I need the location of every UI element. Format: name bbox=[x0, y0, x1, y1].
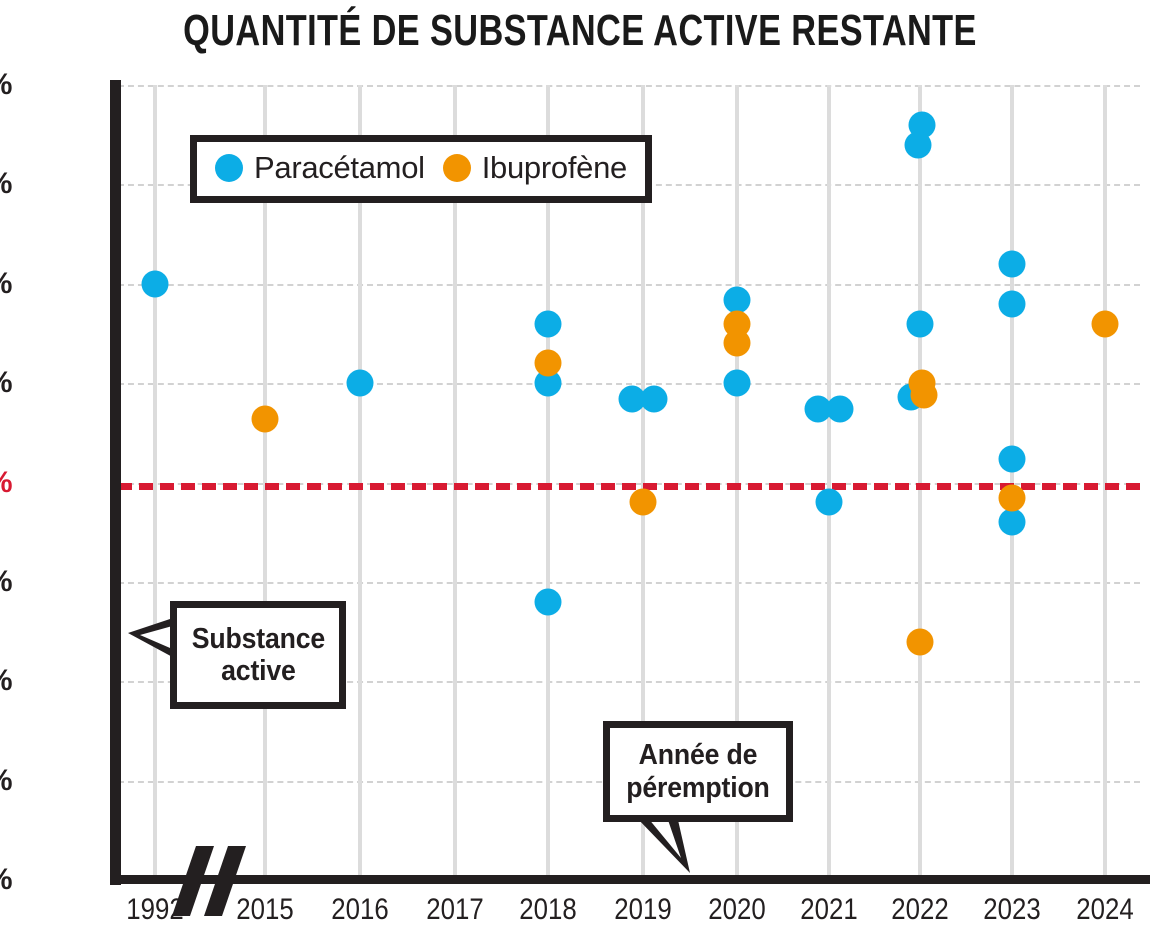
x-axis-tick-label: 2018 bbox=[519, 893, 576, 927]
y-axis-tick-label: 75 % bbox=[0, 764, 12, 798]
y-axis-tick-label: 80 % bbox=[0, 664, 12, 698]
x-axis-tick-label: 2015 bbox=[236, 893, 293, 927]
legend-swatch-blue-circle-icon bbox=[215, 154, 243, 182]
x-axis-tick-label: 2020 bbox=[708, 893, 765, 927]
y-axis-line bbox=[110, 80, 121, 885]
y-axis-tick-label: 70 % bbox=[0, 863, 12, 897]
callout-annee-peremption: Année de péremption bbox=[603, 721, 793, 822]
x-axis-tick-label: 2021 bbox=[800, 893, 857, 927]
y-axis-tick-label: 90 % bbox=[0, 466, 12, 500]
y-axis-tick-label: 100 % bbox=[0, 267, 12, 301]
legend-item-ibuprofene[interactable]: Ibuprofène bbox=[443, 150, 627, 186]
x-axis-tick-label: 2019 bbox=[614, 893, 671, 927]
x-axis-tick-label: 2016 bbox=[331, 893, 388, 927]
chart-container: QUANTITÉ DE SUBSTANCE ACTIVE RESTANTE 11… bbox=[0, 0, 1160, 941]
callout-substance-active-line2: active bbox=[191, 655, 324, 687]
legend-label-ibuprofene: Ibuprofène bbox=[482, 150, 627, 186]
legend-label-paracetamol: Paracétamol bbox=[254, 150, 425, 186]
x-axis-tick-label: 2023 bbox=[983, 893, 1040, 927]
x-axis-line bbox=[110, 875, 1150, 884]
y-axis-tick-label: 105 % bbox=[0, 167, 12, 201]
chart-legend: Paracétamol Ibuprofène bbox=[190, 135, 652, 203]
y-axis-tick-label: 85 % bbox=[0, 565, 12, 599]
y-axis-tick-label: 95 % bbox=[0, 366, 12, 400]
callout-annee-peremption-line1: Année de bbox=[626, 739, 769, 771]
legend-item-paracetamol[interactable]: Paracétamol bbox=[215, 150, 425, 186]
x-axis-tick-label: 2024 bbox=[1076, 893, 1133, 927]
x-axis-tick-label: 2022 bbox=[891, 893, 948, 927]
x-axis-tick-label: 1992 bbox=[126, 893, 183, 927]
x-axis-tick-label: 2017 bbox=[426, 893, 483, 927]
callout-substance-active-line1: Substance bbox=[191, 623, 324, 655]
callout-annee-peremption-line2: péremption bbox=[626, 772, 769, 804]
callout-substance-active: Substance active bbox=[170, 601, 346, 709]
y-axis-tick-label: 110 % bbox=[0, 68, 12, 102]
legend-swatch-orange-circle-icon bbox=[443, 154, 471, 182]
